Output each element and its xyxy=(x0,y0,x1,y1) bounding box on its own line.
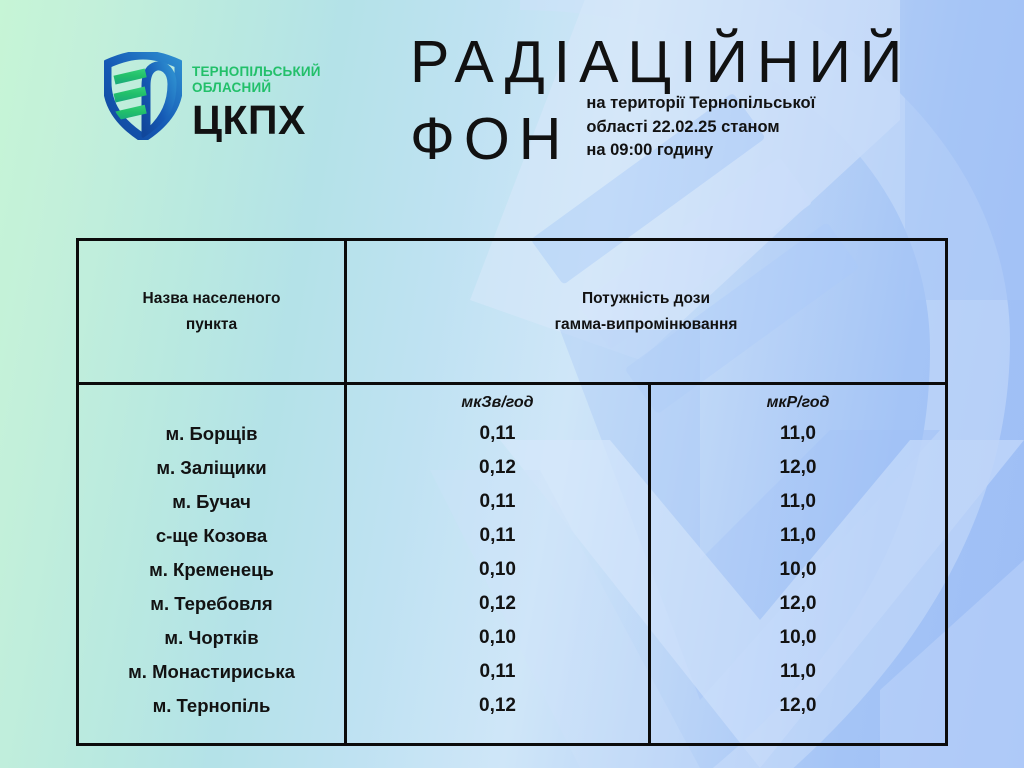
cell-settlement: м. Чортків xyxy=(79,621,344,655)
page-subtitle: на території Тернопільської області 22.0… xyxy=(586,92,815,169)
cell-usv: 0,12 xyxy=(347,689,648,723)
header-settlement-label: Назва населеного пункта xyxy=(143,286,281,336)
cell-ur: 11,0 xyxy=(651,519,945,553)
header-cell-dose: Потужність дози гамма-випромінювання xyxy=(347,241,945,382)
cell-usv: 0,11 xyxy=(347,485,648,519)
cell-settlement: м. Борщів xyxy=(79,417,344,451)
cell-ur: 12,0 xyxy=(651,587,945,621)
title-block: РАДІАЦІЙНИЙ ФОН на території Тернопільсь… xyxy=(410,34,1010,169)
cell-usv: 0,12 xyxy=(347,587,648,621)
cell-settlement: с-ще Козова xyxy=(79,519,344,553)
radiation-table: Назва населеного пункта Потужність дози … xyxy=(76,238,948,746)
table-header-row: Назва населеного пункта Потужність дози … xyxy=(79,241,945,385)
subtitle-line-3: на 09:00 годину xyxy=(586,139,815,163)
column-microsievert: мкЗв/год 0,110,120,110,110,100,120,100,1… xyxy=(347,385,651,743)
cell-settlement: м. Заліщики xyxy=(79,451,344,485)
cell-ur: 10,0 xyxy=(651,621,945,655)
column-settlements: м. Борщівм. Заліщиким. Бучач с-ще Козова… xyxy=(79,385,347,743)
brand-line-1: ТЕРНОПІЛЬСЬКИЙ xyxy=(192,64,321,80)
header-cell-settlement: Назва населеного пункта xyxy=(79,241,347,382)
organisation-branding: ТЕРНОПІЛЬСЬКИЙ ОБЛАСНИЙ ЦКПХ xyxy=(104,52,321,142)
header-dose-label: Потужність дози гамма-випромінювання xyxy=(555,286,738,336)
cell-settlement: м. Тернопіль xyxy=(79,689,344,723)
subtitle-line-2: області 22.02.25 станом xyxy=(586,116,815,140)
subtitle-line-1: на території Тернопільської xyxy=(586,92,815,116)
cell-ur: 11,0 xyxy=(651,655,945,689)
cell-usv: 0,11 xyxy=(347,519,648,553)
brand-text-block: ТЕРНОПІЛЬСЬКИЙ ОБЛАСНИЙ ЦКПХ xyxy=(192,52,321,142)
cell-ur: 11,0 xyxy=(651,485,945,519)
cell-usv: 0,11 xyxy=(347,655,648,689)
title-row-2: ФОН на території Тернопільської області … xyxy=(410,92,1010,169)
unit-label-ur: мкР/год xyxy=(651,389,945,417)
cell-usv: 0,10 xyxy=(347,621,648,655)
page-header: ТЕРНОПІЛЬСЬКИЙ ОБЛАСНИЙ ЦКПХ РАДІАЦІЙНИЙ… xyxy=(0,0,1024,232)
cell-settlement: м. Теребовля xyxy=(79,587,344,621)
cell-settlement: м. Кременець xyxy=(79,553,344,587)
cell-usv: 0,12 xyxy=(347,451,648,485)
cell-settlement: м. Бучач xyxy=(79,485,344,519)
cell-usv: 0,11 xyxy=(347,417,648,451)
shield-heart-logo-icon xyxy=(104,52,182,140)
brand-abbreviation: ЦКПХ xyxy=(192,100,321,142)
cell-ur: 12,0 xyxy=(651,689,945,723)
brand-line-2: ОБЛАСНИЙ xyxy=(192,80,321,96)
page-title-line1: РАДІАЦІЙНИЙ xyxy=(410,34,1010,92)
cell-ur: 10,0 xyxy=(651,553,945,587)
cell-usv: 0,10 xyxy=(347,553,648,587)
page-title-line2: ФОН xyxy=(410,110,570,169)
cell-settlement: м. Монастириська xyxy=(79,655,344,689)
column-microroentgen: мкР/год 11,012,011,011,010,012,010,011,0… xyxy=(651,385,945,743)
cell-ur: 11,0 xyxy=(651,417,945,451)
table-body: м. Борщівм. Заліщиким. Бучач с-ще Козова… xyxy=(79,385,945,743)
unit-label-usv: мкЗв/год xyxy=(347,389,648,417)
cell-ur: 12,0 xyxy=(651,451,945,485)
